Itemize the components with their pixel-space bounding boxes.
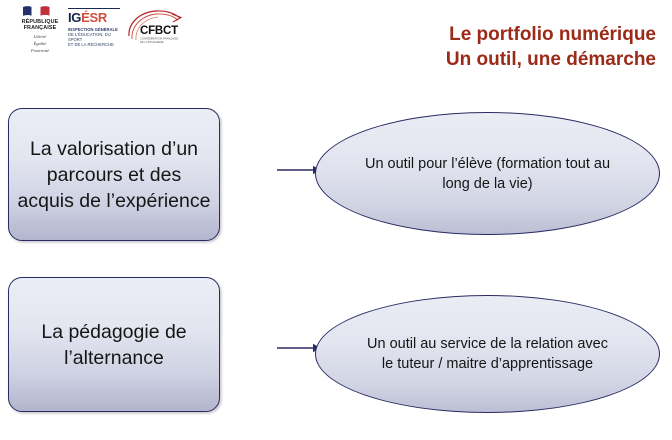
source-box-2-label: La pédagogie de l’alternance — [9, 319, 219, 371]
republique-francaise-logo: RÉPUBLIQUE FRANÇAISE Liberté Égalité Fra… — [14, 6, 66, 53]
source-box-2: La pédagogie de l’alternance — [8, 277, 220, 412]
rf-motto-egalite: Égalité — [14, 41, 66, 46]
svg-text:CFBCT: CFBCT — [140, 25, 178, 37]
target-ellipse-2-label: Un outil au service de la relation avec … — [316, 334, 659, 374]
target-ellipse-1: Un outil pour l’élève (formation tout au… — [315, 112, 660, 235]
rf-title-line2: FRANÇAISE — [14, 25, 66, 31]
igesr-logo: IGÉSR INSPECTION GÉNÉRALE DE L'ÉDUCATION… — [68, 8, 126, 47]
slide-title: Le portfolio numérique Un outil, une dém… — [446, 22, 656, 72]
igesr-subtitle-line2: DE L'ÉDUCATION, DU SPORT — [68, 32, 124, 42]
rf-motto-fraternite: Fraternité — [14, 48, 66, 53]
slide-canvas: RÉPUBLIQUE FRANÇAISE Liberté Égalité Fra… — [0, 0, 672, 440]
cfbct-logo-icon: CFBCT CONFÉDÉRATION FRANÇAISE DE LA BOUC… — [126, 9, 190, 51]
igesr-subtitle-line3: ET DE LA RECHERCHE — [68, 42, 124, 47]
cfbct-logo: CFBCT CONFÉDÉRATION FRANÇAISE DE LA BOUC… — [126, 9, 190, 51]
source-box-1-label: La valorisation d’un parcours et des acq… — [9, 136, 219, 214]
slide-title-line2: Un outil, une démarche — [446, 47, 656, 72]
french-flag-icon — [23, 6, 57, 17]
target-ellipse-1-label: Un outil pour l’élève (formation tout au… — [316, 154, 659, 194]
igesr-wordmark-esr: ÉSR — [81, 10, 107, 25]
logo-bar: RÉPUBLIQUE FRANÇAISE Liberté Égalité Fra… — [0, 0, 400, 62]
rf-motto-liberte: Liberté — [14, 34, 66, 39]
igesr-wordmark: IGÉSR — [68, 11, 126, 25]
igesr-rule — [68, 8, 120, 9]
svg-text:DE LA BOUCHERIE: DE LA BOUCHERIE — [140, 40, 164, 44]
slide-title-line1: Le portfolio numérique — [446, 22, 656, 47]
igesr-wordmark-ig: IG — [68, 10, 81, 25]
source-box-1: La valorisation d’un parcours et des acq… — [8, 108, 220, 241]
target-ellipse-2: Un outil au service de la relation avec … — [315, 295, 660, 413]
